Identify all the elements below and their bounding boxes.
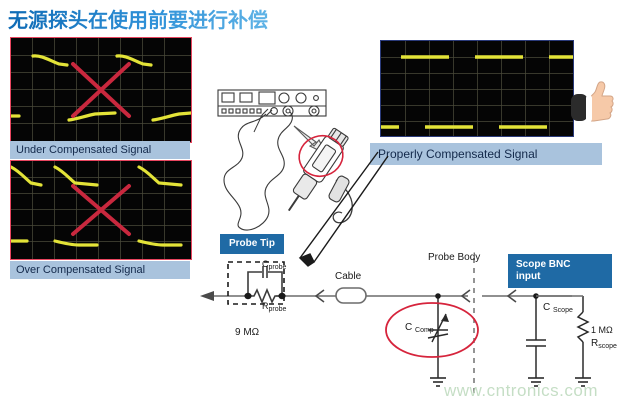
scope-bnc-line1: Scope BNC [516, 259, 604, 271]
probe-tip-box: Probe Tip [220, 234, 284, 254]
label-9-mohm: 9 MΩ [235, 327, 259, 338]
label-probe-body: Probe Body [428, 252, 480, 263]
label-1-mohm: 1 MΩ [591, 325, 613, 335]
label-r-probe: Rprobe [262, 301, 286, 313]
scope-bnc-input-box: Scope BNC input [508, 254, 612, 288]
watermark: www.cntronics.com [444, 381, 598, 401]
scope-bnc-line2: input [516, 271, 604, 283]
label-r-scope: Rscope [591, 338, 617, 350]
slide-root: 无源探头在使用前要进行补偿 [0, 0, 621, 407]
label-c-comp: C Comp [405, 322, 434, 334]
label-cable: Cable [335, 271, 361, 282]
label-c-probe: Cprobe [262, 259, 286, 271]
probe-equivalent-circuit [0, 0, 621, 407]
label-c-scope: C Scope [543, 302, 573, 314]
